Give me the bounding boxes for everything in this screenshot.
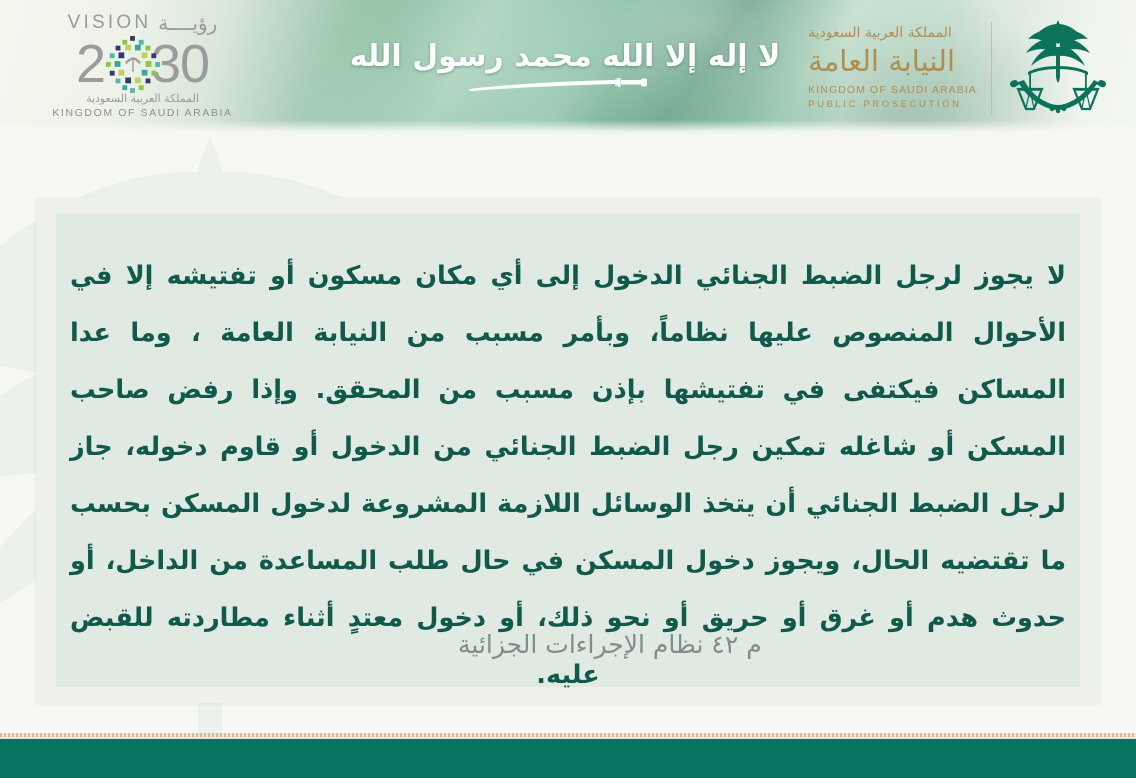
shahada-text: لا إله إلا الله محمد رسول الله	[350, 40, 781, 75]
logo-divider	[991, 22, 992, 114]
sword-icon	[465, 78, 665, 96]
vision-mosaic-icon	[104, 35, 162, 93]
vision-subtitle-en: KINGDOM OF SAUDI ARABIA	[40, 107, 245, 119]
header-banner: VISION رؤيــــة 2 30	[0, 0, 1136, 136]
public-prosecution-logo: المملكة العربية السعودية النيابة العامة …	[808, 10, 1114, 126]
vision-word-ar: رؤيــــة	[158, 11, 217, 35]
saudi-flag-emblem: لا إله إلا الله محمد رسول الله	[415, 18, 715, 118]
pp-kingdom-en: KINGDOM OF SAUDI ARABIA	[808, 84, 977, 96]
header-fade	[0, 120, 1136, 136]
public-prosecution-wordmark: المملكة العربية السعودية النيابة العامة …	[808, 18, 991, 118]
pp-name-ar: النيابة العامة	[808, 43, 955, 79]
pp-kingdom-ar: المملكة العربية السعودية	[808, 26, 952, 41]
vision-2030-logo: VISION رؤيــــة 2 30	[40, 12, 245, 124]
vision-word-en: VISION	[68, 12, 152, 34]
vision-title-row: VISION رؤيــــة	[40, 12, 245, 34]
pp-name-en: PUBLIC PROSECUTION	[808, 99, 961, 110]
legal-citation: م ٤٢ نظام الإجراءات الجزائية	[458, 630, 1058, 659]
vision-digit-2: 2	[76, 37, 105, 91]
footer-bar	[0, 739, 1136, 778]
vision-number-row: 2 30	[40, 34, 245, 94]
legal-body-text: لا يجوز لرجل الضبط الجنائي الدخول إلى أي…	[66, 248, 1070, 668]
saudi-emblem-icon	[1002, 14, 1114, 122]
